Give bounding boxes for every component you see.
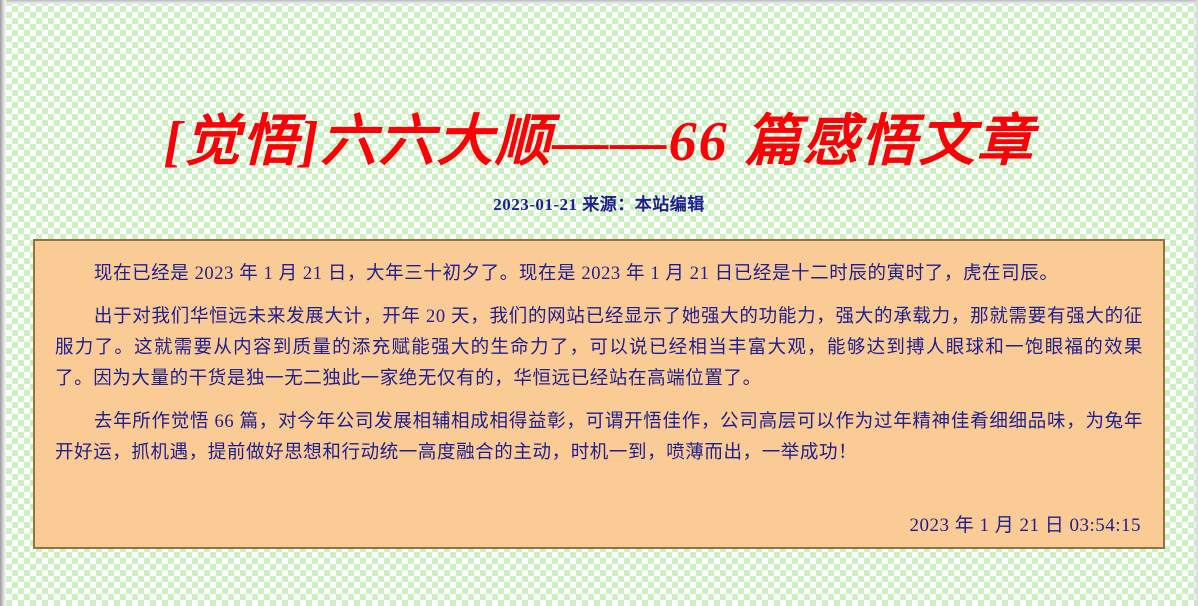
- article-paragraph: 去年所作觉悟 66 篇，对今年公司发展相辅相成相得益彰，可谓开悟佳作，公司高层可…: [55, 407, 1143, 469]
- window-edge-right-shading: [1193, 0, 1198, 606]
- window-edge-top-shading: [0, 0, 1198, 5]
- article-timestamp: 2023 年 1 月 21 日 03:54:15: [909, 510, 1141, 537]
- window-edge-left-shading: [0, 0, 7, 606]
- article-body-panel: 现在已经是 2023 年 1 月 21 日，大年三十初夕了。现在是 2023 年…: [33, 239, 1165, 549]
- page-canvas: [觉悟]六六大顺——66 篇感悟文章 2023-01-21 来源：本站编辑 现在…: [0, 0, 1198, 606]
- article-paragraph: 现在已经是 2023 年 1 月 21 日，大年三十初夕了。现在是 2023 年…: [55, 259, 1143, 290]
- article-paragraph: 出于对我们华恒远未来发展大计，开年 20 天，我们的网站已经显示了她强大的功能力…: [55, 302, 1143, 395]
- article-byline: 2023-01-21 来源：本站编辑: [0, 190, 1198, 215]
- page-title: [觉悟]六六大顺——66 篇感悟文章: [0, 112, 1198, 172]
